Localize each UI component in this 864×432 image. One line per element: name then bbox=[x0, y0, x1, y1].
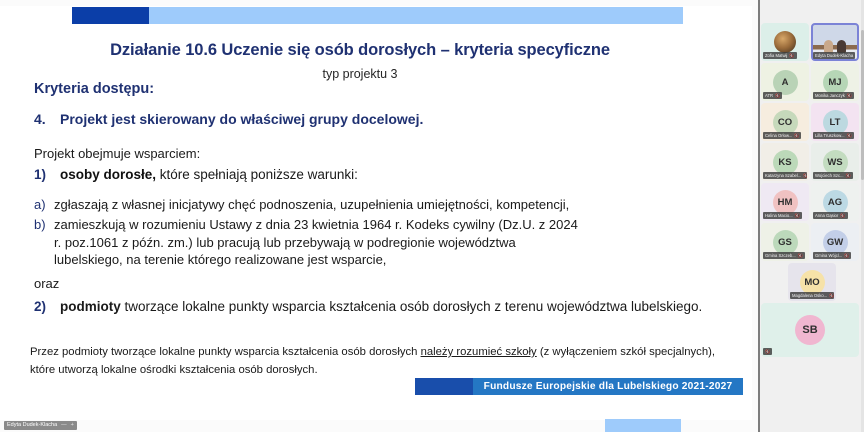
avatar-initials: GW bbox=[823, 230, 848, 255]
mic-muted-icon: 🔇 bbox=[829, 292, 834, 299]
participant-name: Halina Macio... bbox=[765, 212, 793, 219]
banner-light-block bbox=[149, 7, 683, 24]
mic-muted-icon: 🔇 bbox=[765, 348, 770, 355]
participant-name: Gmina Wójcl... bbox=[815, 252, 842, 259]
mic-muted-icon: 🔇 bbox=[789, 52, 794, 59]
list-item-1-rest: które spełniają poniższe warunki: bbox=[156, 167, 358, 182]
slide-subtitle: typ projektu 3 bbox=[0, 67, 720, 81]
participant-name: Zofia Matwij bbox=[765, 52, 787, 59]
participant-name: Gmina Szczeb... bbox=[765, 252, 796, 259]
avatar-initials: CO bbox=[773, 110, 798, 135]
sub-item-b-line-1: zamieszkują w rozumieniu Ustawy z dnia 2… bbox=[54, 217, 578, 232]
avatar bbox=[774, 31, 796, 53]
mic-muted-icon: 🔇 bbox=[795, 212, 800, 219]
participant-name: ATR bbox=[765, 92, 773, 99]
participant-tile[interactable]: MOMagdalena Osko...🔇 bbox=[788, 263, 836, 301]
access-criteria-heading: Kryteria dostępu: bbox=[34, 81, 154, 97]
avatar-initials: WS bbox=[823, 150, 848, 175]
participant-tile[interactable]: AGAnna Gąsior🔇 bbox=[811, 183, 859, 221]
list-item-2: 2)podmioty tworzące lokalne punkty wspar… bbox=[34, 298, 734, 317]
avatar-initials: GS bbox=[773, 230, 798, 255]
list-item-1-number: 1) bbox=[34, 167, 60, 182]
slide-title: Działanie 10.6 Uczenie się osób dorosłyc… bbox=[0, 41, 720, 60]
avatar-initials: MJ bbox=[823, 70, 848, 95]
taskbar-self-chip[interactable]: Edyta Dudek-Klacha—+ bbox=[4, 421, 77, 430]
mic-muted-icon: 🔇 bbox=[798, 252, 803, 259]
list-item-2-rest: tworzące lokalne punkty wsparcia kształc… bbox=[121, 299, 703, 314]
sub-item-b-line-2: r. poz.1061 z późn. zm.) lub pracują lub… bbox=[34, 234, 734, 252]
sub-item-a-letter: a) bbox=[34, 196, 54, 214]
participant-name-badge: Wojciech Szc...🔇 bbox=[813, 172, 853, 179]
footnote-part-1: Przez podmioty tworzące lokalne punkty w… bbox=[30, 346, 421, 358]
footer-ribbon-dark bbox=[415, 378, 473, 395]
slide-title-main: Działanie 10.6 Uczenie się osób dorosłyc… bbox=[110, 41, 436, 59]
footer-ribbon-text: Fundusze Europejskie dla Lubelskiego 202… bbox=[473, 378, 743, 395]
participant-roster[interactable]: Zofia Matwij🔇Edyta Dudek-KlachaAATR🔇MJMo… bbox=[760, 0, 864, 432]
participant-tile[interactable]: GSGmina Szczeb...🔇 bbox=[761, 223, 809, 261]
taskbar-self-name: Edyta Dudek-Klacha bbox=[7, 422, 57, 428]
participant-name: Edyta Dudek-Klacha bbox=[815, 52, 853, 59]
participant-name-badge: Gmina Wójcl...🔇 bbox=[813, 252, 851, 259]
participant-name-badge: Zofia Matwij🔇 bbox=[763, 52, 797, 59]
slide-bottom-accent bbox=[605, 419, 681, 432]
list-item-1-bold: osoby dorosłe, bbox=[60, 167, 156, 182]
participant-tile[interactable]: KSKatarzyna Szabel...🔇 bbox=[761, 143, 809, 181]
list-item-1: 1)osoby dorosłe, które spełniają poniższ… bbox=[34, 167, 734, 182]
participant-tile[interactable]: Zofia Matwij🔇 bbox=[761, 23, 809, 61]
participant-name: Wojciech Szc... bbox=[815, 172, 844, 179]
slide-top-banner bbox=[0, 6, 752, 26]
slide-footnote: Przez podmioty tworzące lokalne punkty w… bbox=[30, 344, 720, 379]
sub-item-a: a)zgłaszają z własnej inicjatywy chęć po… bbox=[34, 196, 734, 214]
participant-tile[interactable]: Edyta Dudek-Klacha bbox=[811, 23, 859, 61]
participant-name-badge: 🔇 bbox=[763, 348, 772, 355]
sub-item-b-letter: b) bbox=[34, 216, 54, 234]
participant-name-badge: Katarzyna Szabel...🔇 bbox=[763, 172, 807, 179]
avatar-initials: LT bbox=[823, 110, 848, 135]
banner-dark-block bbox=[72, 7, 149, 24]
list-item-2-number: 2) bbox=[34, 298, 60, 317]
participant-name-badge: Lilla Truszkow...🔇 bbox=[813, 132, 854, 139]
participant-name-badge: Celina Orłow...🔇 bbox=[763, 132, 801, 139]
sub-item-b: b)zamieszkują w rozumieniu Ustawy z dnia… bbox=[34, 216, 734, 269]
mic-muted-icon: 🔇 bbox=[775, 92, 780, 99]
mic-muted-icon: 🔇 bbox=[846, 172, 851, 179]
participant-tile[interactable]: MJMonika Janczyk🔇 bbox=[811, 63, 859, 101]
avatar-initials: AG bbox=[823, 190, 848, 215]
participant-tile[interactable]: LTLilla Truszkow...🔇 bbox=[811, 103, 859, 141]
avatar-initials: KS bbox=[773, 150, 798, 175]
participant-name-badge: Anna Gąsior🔇 bbox=[813, 212, 848, 219]
list-item-2-bold: podmioty bbox=[60, 299, 121, 314]
support-lead-in: Projekt obejmuje wsparciem: bbox=[34, 146, 200, 161]
participant-tile[interactable]: WSWojciech Szc...🔇 bbox=[811, 143, 859, 181]
participant-name: Anna Gąsior bbox=[815, 212, 838, 219]
mic-muted-icon: 🔇 bbox=[794, 132, 799, 139]
expand-icon[interactable]: + bbox=[71, 422, 74, 428]
sub-item-a-text: zgłaszają z własnej inicjatywy chęć podn… bbox=[54, 197, 569, 212]
minimize-icon[interactable]: — bbox=[61, 422, 67, 428]
footnote-underlined: należy rozumieć szkoły bbox=[421, 346, 537, 358]
participant-tile[interactable]: COCelina Orłow...🔇 bbox=[761, 103, 809, 141]
video-feed bbox=[811, 35, 859, 53]
participant-name: Magdalena Osko... bbox=[792, 292, 827, 299]
mic-muted-icon: 🔇 bbox=[847, 132, 852, 139]
participant-name-badge: ATR🔇 bbox=[763, 92, 782, 99]
avatar-initials: A bbox=[773, 70, 798, 95]
participant-name-badge: Magdalena Osko...🔇 bbox=[790, 292, 834, 299]
mic-muted-icon: 🔇 bbox=[844, 252, 849, 259]
mic-muted-icon: 🔇 bbox=[840, 212, 845, 219]
slide-content: Działanie 10.6 Uczenie się osób dorosłyc… bbox=[0, 26, 752, 376]
mic-muted-icon: 🔇 bbox=[847, 92, 852, 99]
conjunction-oraz: oraz bbox=[34, 276, 59, 291]
participant-tile-grid: Zofia Matwij🔇Edyta Dudek-KlachaAATR🔇MJMo… bbox=[760, 22, 864, 358]
participant-tile[interactable]: AATR🔇 bbox=[761, 63, 809, 101]
spotlight-participant-tile[interactable]: SB🔇 bbox=[761, 303, 859, 357]
participant-name-badge: Halina Macio...🔇 bbox=[763, 212, 802, 219]
participant-tile[interactable]: HMHalina Macio...🔇 bbox=[761, 183, 809, 221]
meeting-screen-share: Działanie 10.6 Uczenie się osób dorosłyc… bbox=[0, 0, 864, 432]
sub-item-b-line-3: lubelskiego, na terenie którego realizow… bbox=[34, 251, 734, 269]
participant-name: Katarzyna Szabel... bbox=[765, 172, 801, 179]
participant-name: Celina Orłow... bbox=[765, 132, 792, 139]
criterion-4-text: Projekt jest skierowany do właściwej gru… bbox=[60, 111, 423, 127]
criterion-4-number: 4. bbox=[34, 111, 60, 127]
avatar-initials: SB bbox=[795, 315, 825, 345]
participant-name: Lilla Truszkow... bbox=[815, 132, 845, 139]
avatar-initials: MO bbox=[800, 270, 825, 295]
presentation-slide: Działanie 10.6 Uczenie się osób dorosłyc… bbox=[0, 6, 752, 420]
slide-title-tail: – kryteria specyficzne bbox=[436, 41, 610, 59]
screen-share-stage: Działanie 10.6 Uczenie się osób dorosłyc… bbox=[0, 0, 760, 432]
participant-name-badge: Monika Janczyk🔇 bbox=[813, 92, 854, 99]
participant-name-badge: Gmina Szczeb...🔇 bbox=[763, 252, 805, 259]
participant-name-badge: Edyta Dudek-Klacha bbox=[813, 52, 855, 59]
participant-name: Monika Janczyk bbox=[815, 92, 845, 99]
avatar-initials: HM bbox=[773, 190, 798, 215]
mic-muted-icon: 🔇 bbox=[803, 172, 807, 179]
participant-tile[interactable]: GWGmina Wójcl...🔇 bbox=[811, 223, 859, 261]
criterion-4: 4.Projekt jest skierowany do właściwej g… bbox=[34, 111, 734, 127]
